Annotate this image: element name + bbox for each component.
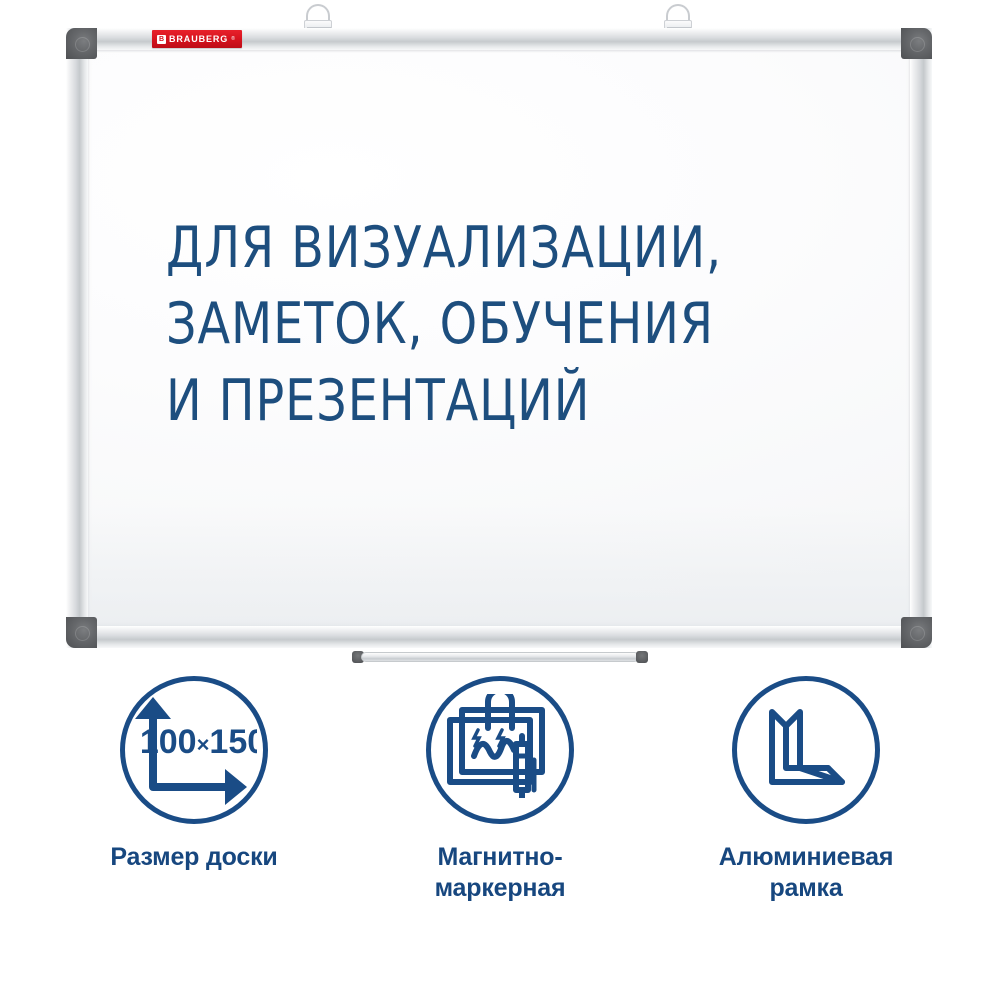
board-size-icon: 100×150 [131, 687, 257, 813]
brauberg-logo: B BRAUBERG ® [152, 30, 242, 48]
arrow-up-head [135, 697, 171, 719]
frame-left [66, 28, 88, 648]
arrow-right-head [225, 769, 247, 805]
magnetic-marker-icon [444, 694, 556, 806]
whiteboard-surface: Для визуализации, заметок, обучения и пр… [88, 50, 910, 626]
feature-icon-circle: 100×150 [120, 676, 268, 824]
corner-piece-top-left [66, 28, 97, 59]
whiteboard-headline: Для визуализации, заметок, обучения и пр… [166, 210, 780, 439]
feature-list: 100×150 Размер доски [0, 676, 1000, 904]
headline-line-2: заметок, обучения [166, 286, 780, 362]
aluminium-frame-icon [750, 694, 862, 806]
pen-tray [352, 651, 648, 664]
caption-line: рамка [719, 873, 894, 904]
corner-piece-bottom-left [66, 617, 97, 648]
corner-piece-top-right [901, 28, 932, 59]
feature-magnetic-marker: Магнитно- маркерная [382, 676, 618, 904]
caption-line: маркерная [435, 873, 566, 904]
headline-line-3: и презентаций [166, 363, 780, 439]
caption-line: Размер доски [110, 842, 277, 873]
frame-right [910, 28, 932, 648]
product-image-canvas: Для визуализации, заметок, обучения и пр… [0, 0, 1000, 1000]
caption-line: Алюминиевая [719, 842, 894, 873]
feature-caption: Алюминиевая рамка [719, 842, 894, 904]
feature-icon-circle [426, 676, 574, 824]
tray-rail [361, 652, 639, 662]
brand-mark-icon: B [157, 35, 166, 44]
trademark-symbol: ® [231, 36, 235, 42]
whiteboard: Для визуализации, заметок, обучения и пр… [66, 28, 932, 648]
feature-caption: Размер доски [110, 842, 277, 873]
feature-board-size: 100×150 Размер доски [76, 676, 312, 904]
feature-caption: Магнитно- маркерная [435, 842, 566, 904]
frame-bottom [66, 626, 932, 648]
corner-piece-bottom-right [901, 617, 932, 648]
feature-icon-circle [732, 676, 880, 824]
brand-name: BRAUBERG [169, 34, 228, 44]
tray-end-cap-right [636, 651, 648, 663]
feature-aluminium-frame: Алюминиевая рамка [688, 676, 924, 904]
size-label: 100×150 [140, 723, 257, 761]
caption-line: Магнитно- [435, 842, 566, 873]
scribble-line [474, 741, 514, 757]
headline-line-1: Для визуализации, [166, 210, 780, 286]
